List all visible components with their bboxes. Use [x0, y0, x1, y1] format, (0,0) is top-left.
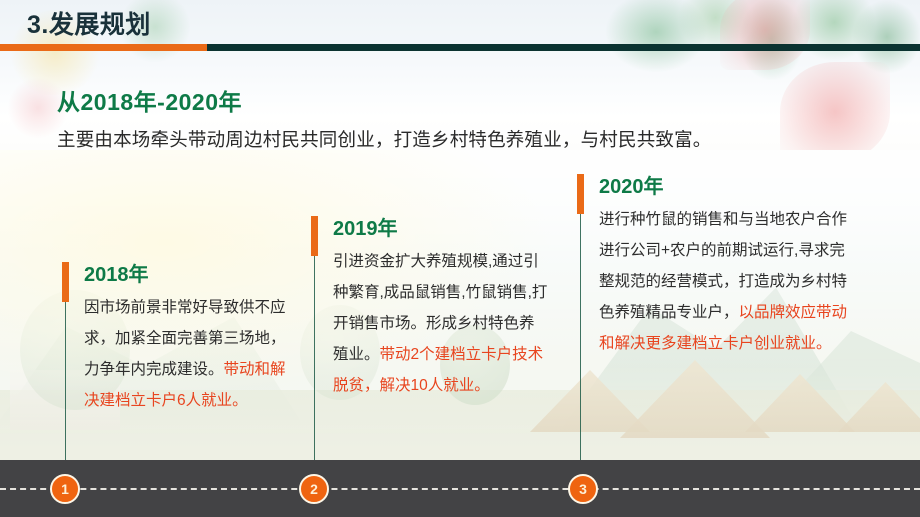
- column-paragraph: 因市场前景非常好导致供不应求，加紧全面完善第三场地，力争年内完成建设。带动和解决…: [84, 292, 299, 416]
- page-title: 3.发展规划: [27, 13, 151, 38]
- column-year-label: 2018年: [84, 258, 149, 287]
- leaf-spray-decoration: [590, 0, 920, 80]
- flower-decoration: [780, 62, 890, 150]
- timeline-node-1[interactable]: 1: [50, 474, 80, 504]
- column-paragraph: 进行种竹鼠的销售和与当地农户合作进行公司+农户的前期试运行,寻求完整规范的经营模…: [599, 204, 849, 359]
- timeline-node-3[interactable]: 3: [568, 474, 598, 504]
- slide: 3.发展规划 从2018年-2020年 主要由本场牵头带动周边村民共同创业，打造…: [0, 0, 920, 517]
- column-marker: [62, 262, 69, 302]
- column-marker: [577, 174, 584, 214]
- column-year-label: 2020年: [599, 170, 664, 199]
- intro-body: 主要由本场牵头带动周边村民共同创业，打造乡村特色养殖业，与村民共致富。: [57, 126, 712, 152]
- column-paragraph: 引进资金扩大养殖规模,通过引种繁育,成品鼠销售,竹鼠销售,打开销售市场。形成乡村…: [333, 246, 548, 401]
- flower-decoration: [720, 0, 810, 70]
- column-year-label: 2019年: [333, 212, 398, 241]
- header-rule-orange: [0, 44, 207, 51]
- footer-bar: 1 2 3: [0, 460, 920, 517]
- column-marker: [311, 216, 318, 256]
- dashed-road-line: [0, 488, 920, 490]
- header-rule-green: [207, 44, 920, 51]
- intro-heading: 从2018年-2020年: [57, 83, 242, 117]
- timeline-node-2[interactable]: 2: [299, 474, 329, 504]
